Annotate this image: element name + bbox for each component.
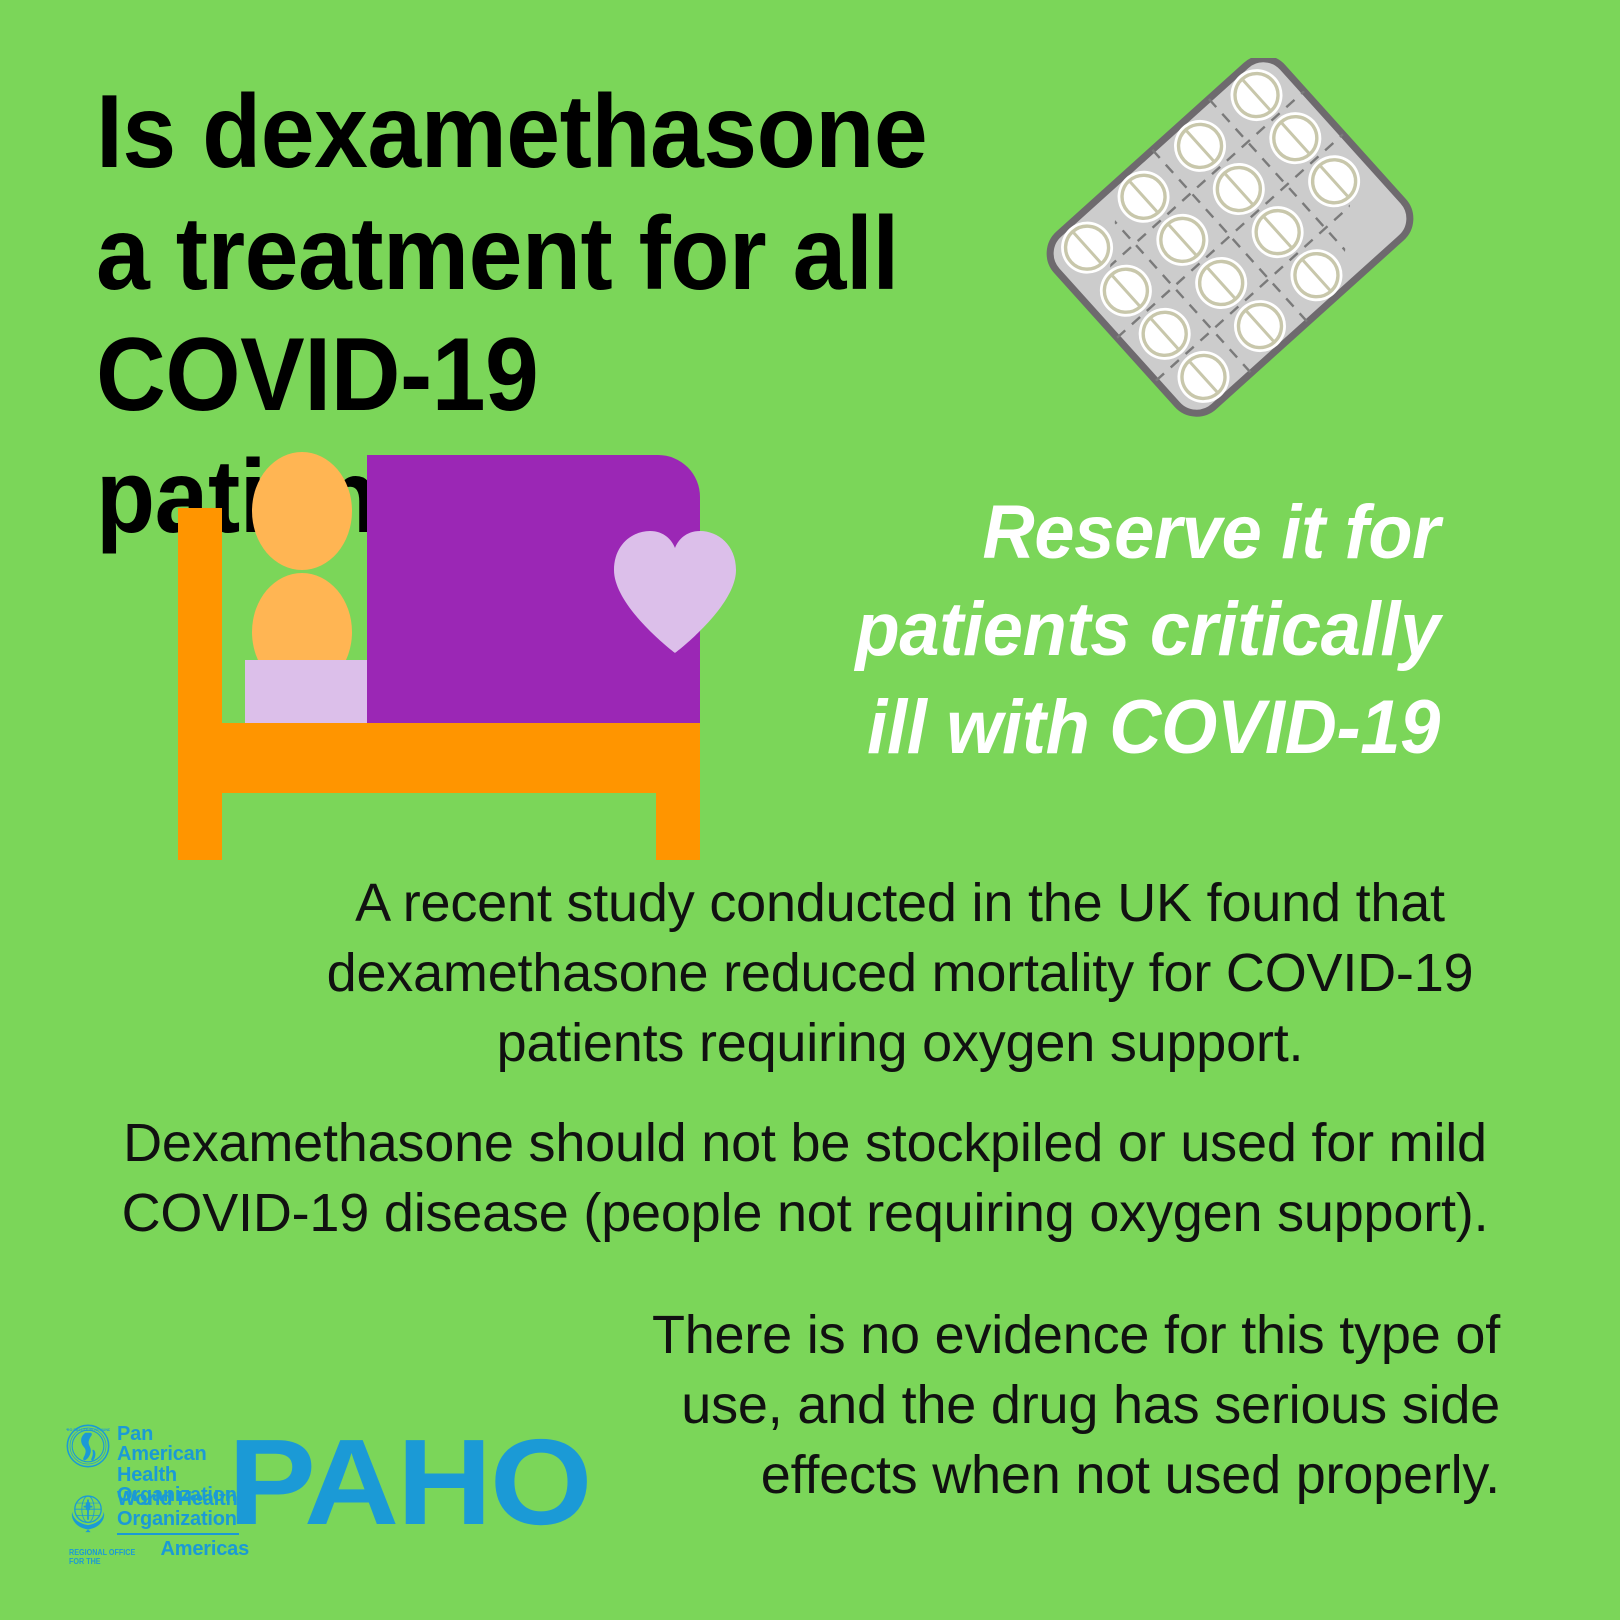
slogan-text: Reserve it for patients critically ill w…: [737, 484, 1440, 776]
pan-american-health-organization-emblem-icon: PRO SALUTE NOVI MUNDI: [66, 1424, 110, 1468]
patient-head-icon: [252, 452, 352, 570]
bed-pillow: [245, 660, 367, 723]
who-emblem-row: World Health Organization: [66, 1489, 238, 1533]
bed-mattress-frame: [178, 723, 700, 793]
who-emblem-label: World Health Organization: [117, 1489, 238, 1530]
bed-headboard-post: [178, 508, 222, 860]
world-health-organization-emblem-icon: [66, 1489, 110, 1533]
bed-leg-right: [656, 723, 700, 860]
body-paragraph-3: There is no evidence for this type of us…: [600, 1300, 1500, 1511]
logo-emblems: PRO SALUTE NOVI MUNDI Pan American Healt…: [66, 1420, 246, 1570]
heart-icon: [610, 529, 740, 653]
blister-pack-icon: [1030, 58, 1430, 458]
svg-text:PRO SALUTE NOVI MUNDI: PRO SALUTE NOVI MUNDI: [66, 1428, 110, 1432]
paho-wordmark: PAHO: [228, 1421, 590, 1543]
infographic-poster: Is dexamethasone a treatment for all COV…: [0, 0, 1620, 1620]
body-paragraph-2: Dexamethasone should not be stockpiled o…: [90, 1108, 1520, 1248]
bed-blanket: [367, 455, 700, 723]
regional-office-line: REGIONAL OFFICE FOR THE Americas: [69, 1538, 249, 1566]
paho-logo-lockup: PRO SALUTE NOVI MUNDI Pan American Healt…: [66, 1420, 646, 1570]
pill-blister-pack-illustration: [1030, 58, 1430, 458]
regional-office-prefix: REGIONAL OFFICE FOR THE: [69, 1548, 148, 1566]
patient-in-hospital-bed-illustration: [160, 420, 720, 860]
body-paragraph-1: A recent study conducted in the UK found…: [300, 868, 1500, 1079]
who-label-underline: [117, 1533, 239, 1535]
